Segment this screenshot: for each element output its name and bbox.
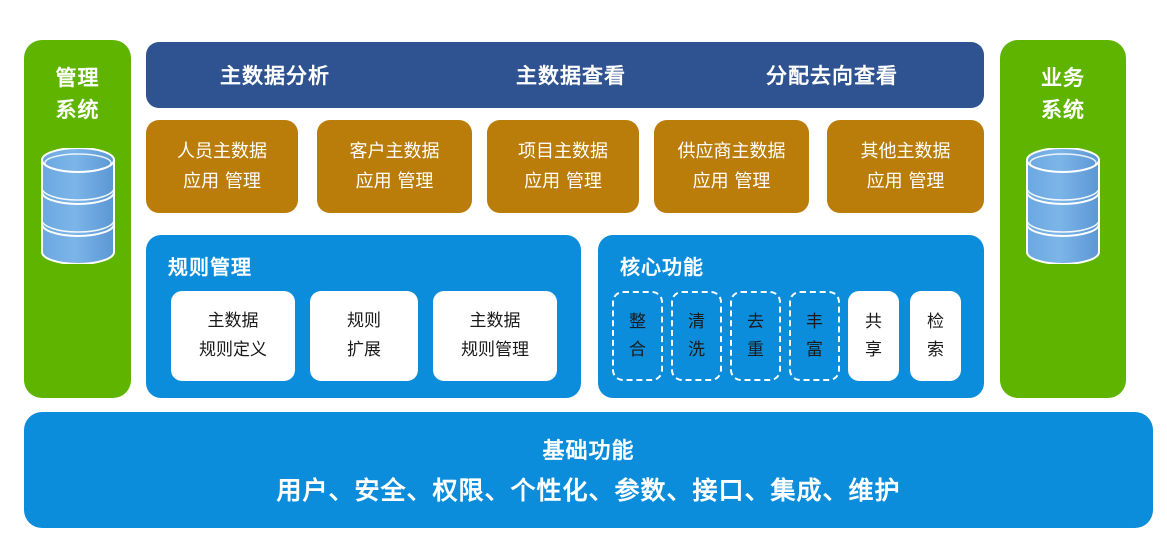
management-system-title: 管理 系统 bbox=[56, 62, 100, 126]
core-function-panel: 核心功能 整 合 清 洗 去 重 丰 富 共 享 检 索 bbox=[598, 235, 984, 398]
management-system-panel[interactable]: 管理 系统 bbox=[24, 40, 131, 398]
master-data-box-project-line2: 应用 管理 bbox=[524, 167, 602, 197]
core-chip-search-line1: 检 bbox=[927, 308, 944, 336]
master-data-box-personnel-line2: 应用 管理 bbox=[183, 167, 261, 197]
base-function-title: 基础功能 bbox=[542, 433, 634, 465]
core-chip-deduplicate-line2: 重 bbox=[747, 336, 764, 364]
rule-card-master-data-rule-management-line1: 主数据 bbox=[470, 307, 521, 336]
core-function-title: 核心功能 bbox=[620, 251, 704, 280]
core-chip-enrich-line2: 富 bbox=[806, 336, 823, 364]
master-data-box-other-line2: 应用 管理 bbox=[867, 167, 945, 197]
management-system-title-line2: 系统 bbox=[56, 94, 100, 126]
master-data-box-personnel[interactable]: 人员主数据 应用 管理 bbox=[146, 120, 298, 213]
core-chip-cleanse-line2: 洗 bbox=[688, 336, 705, 364]
core-chip-share[interactable]: 共 享 bbox=[848, 291, 899, 381]
analysis-item-master-data-analysis[interactable]: 主数据分析 bbox=[220, 60, 330, 90]
analysis-item-distribution-view[interactable]: 分配去向查看 bbox=[766, 60, 898, 90]
analysis-item-master-data-view[interactable]: 主数据查看 bbox=[516, 60, 626, 90]
core-chip-integrate[interactable]: 整 合 bbox=[612, 291, 663, 381]
master-data-box-customer-line2: 应用 管理 bbox=[356, 167, 434, 197]
master-data-box-other-line1: 其他主数据 bbox=[861, 137, 951, 167]
business-system-title-line1: 业务 bbox=[1041, 62, 1085, 94]
architecture-diagram: 管理 系统 主数据 bbox=[0, 0, 1167, 534]
core-chip-deduplicate[interactable]: 去 重 bbox=[730, 291, 781, 381]
core-chip-enrich-line1: 丰 bbox=[806, 308, 823, 336]
rule-card-master-data-rule-definition-line1: 主数据 bbox=[208, 307, 259, 336]
rule-card-master-data-rule-management-line2: 规则管理 bbox=[461, 336, 529, 365]
business-system-title: 业务 系统 bbox=[1041, 62, 1085, 126]
master-data-box-other[interactable]: 其他主数据 应用 管理 bbox=[827, 120, 984, 213]
analysis-bar: 主数据分析 主数据查看 分配去向查看 bbox=[146, 42, 984, 108]
core-chip-cleanse-line1: 清 bbox=[688, 308, 705, 336]
master-data-box-customer[interactable]: 客户主数据 应用 管理 bbox=[317, 120, 472, 213]
master-data-box-project[interactable]: 项目主数据 应用 管理 bbox=[487, 120, 639, 213]
core-chip-cleanse[interactable]: 清 洗 bbox=[671, 291, 722, 381]
management-system-title-line1: 管理 bbox=[56, 62, 100, 94]
rule-management-title: 规则管理 bbox=[168, 251, 252, 280]
rule-card-master-data-rule-management[interactable]: 主数据 规则管理 bbox=[433, 291, 557, 381]
core-chip-share-line1: 共 bbox=[865, 308, 882, 336]
master-data-box-supplier-line2: 应用 管理 bbox=[693, 167, 771, 197]
base-function-bar: 基础功能 用户、安全、权限、个性化、参数、接口、集成、维护 bbox=[24, 412, 1153, 528]
master-data-box-supplier[interactable]: 供应商主数据 应用 管理 bbox=[654, 120, 809, 213]
rule-card-rule-extension-line1: 规则 bbox=[347, 307, 381, 336]
core-chip-enrich[interactable]: 丰 富 bbox=[789, 291, 840, 381]
core-chip-share-line2: 享 bbox=[865, 336, 882, 364]
business-system-title-line2: 系统 bbox=[1041, 94, 1085, 126]
core-chip-integrate-line1: 整 bbox=[629, 308, 646, 336]
master-data-box-customer-line1: 客户主数据 bbox=[350, 137, 440, 167]
database-cylinder-icon bbox=[40, 148, 116, 268]
base-function-subtitle: 用户、安全、权限、个性化、参数、接口、集成、维护 bbox=[276, 471, 900, 507]
rule-card-master-data-rule-definition-line2: 规则定义 bbox=[199, 336, 267, 365]
core-chip-integrate-line2: 合 bbox=[629, 336, 646, 364]
database-cylinder-icon bbox=[1025, 148, 1101, 268]
core-chip-deduplicate-line1: 去 bbox=[747, 308, 764, 336]
core-chip-search-line2: 索 bbox=[927, 336, 944, 364]
rule-card-rule-extension[interactable]: 规则 扩展 bbox=[310, 291, 418, 381]
master-data-box-project-line1: 项目主数据 bbox=[518, 137, 608, 167]
master-data-box-personnel-line1: 人员主数据 bbox=[177, 137, 267, 167]
master-data-box-supplier-line1: 供应商主数据 bbox=[678, 137, 786, 167]
core-chip-search[interactable]: 检 索 bbox=[910, 291, 961, 381]
business-system-panel[interactable]: 业务 系统 bbox=[1000, 40, 1126, 398]
rule-card-rule-extension-line2: 扩展 bbox=[347, 336, 381, 365]
rule-management-panel: 规则管理 主数据 规则定义 规则 扩展 主数据 规则管理 bbox=[146, 235, 581, 398]
rule-card-master-data-rule-definition[interactable]: 主数据 规则定义 bbox=[171, 291, 295, 381]
